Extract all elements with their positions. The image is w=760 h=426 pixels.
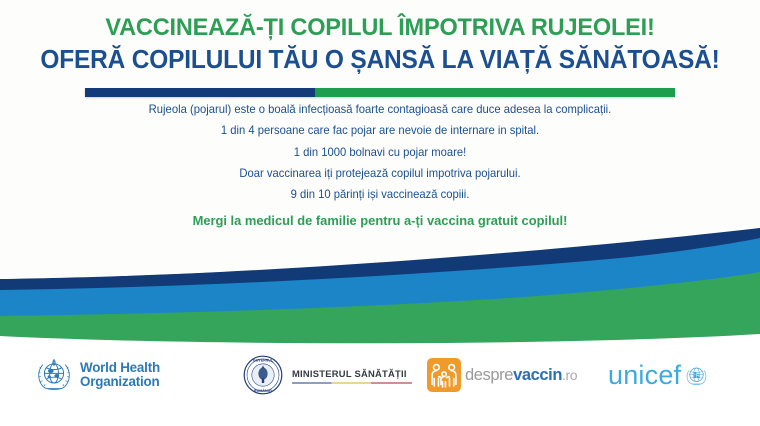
divider-navy-segment [85,88,315,97]
partner-logo-row: World Health Organization GUVERNUL ROMÂN… [0,352,760,398]
measles-vaccination-poster: VACCINEAZĂ-ȚI COPILUL ÎMPOTRIVA RUJEOLEI… [0,0,760,426]
headline-block: VACCINEAZĂ-ȚI COPILUL ÎMPOTRIVA RUJEOLEI… [0,14,760,76]
unicef-wordmark: unicef [608,362,681,389]
who-wordmark: World Health Organization [80,361,160,389]
desprevaccin-wordmark: desprevaccin.ro [465,366,577,385]
headline-line-1: VACCINEAZĂ-ȚI COPILUL ÎMPOTRIVA RUJEOLEI… [15,14,745,42]
svg-text:ROMÂNIEI: ROMÂNIEI [254,388,272,393]
guvernul-romaniei-seal-icon: GUVERNUL ROMÂNIEI [243,355,283,395]
body-copy: Rujeola (pojarul) este o boală infecțioa… [0,103,760,236]
body-line-4: Doar vaccinarea iți protejează copilul i… [11,167,748,182]
body-line-5: 9 din 10 părinți iși vaccinează copiii. [11,188,748,203]
logo-world-health-organization[interactable]: World Health Organization [34,355,160,395]
who-wordmark-line-2: Organization [80,375,160,389]
ministry-label: MINISTERUL SĂNĂTĂȚII [292,368,412,379]
svg-text:GUVERNUL: GUVERNUL [253,358,274,362]
logo-unicef[interactable]: unicef [608,362,709,389]
who-emblem-icon [34,355,74,395]
unicef-globe-icon [684,363,709,388]
logo-ministerul-sanatatii[interactable]: GUVERNUL ROMÂNIEI MINISTERUL SĂNĂTĂȚII [243,355,412,395]
body-line-3: 1 din 1000 bolnavi cu pojar moare! [11,146,748,161]
call-to-action-text: Mergi la medicul de familie pentru a-ți … [11,212,748,229]
headline-line-2: OFERĂ COPILULUI TĂU O ȘANSĂ LA VIAȚĂ SĂN… [15,46,745,76]
wave-graphic [0,228,760,346]
divider-bar [85,88,675,97]
ministry-tricolor-rule [292,382,412,384]
body-line-1: Rujeola (pojarul) este o boală infecțioa… [11,103,748,118]
logo-desprevaccin-ro[interactable]: desprevaccin.ro [427,358,577,392]
who-wordmark-line-1: World Health [80,361,160,375]
desprevaccin-text-light: despre [465,366,513,384]
desprevaccin-text-suffix: .ro [562,367,577,383]
body-line-2: 1 din 4 persoane care fac pojar are nevo… [11,124,748,139]
ministry-text-block: MINISTERUL SĂNĂTĂȚII [292,366,412,384]
divider-green-segment [315,88,675,97]
family-figures-icon [427,358,461,392]
desprevaccin-text-bold: vaccin [513,366,562,384]
